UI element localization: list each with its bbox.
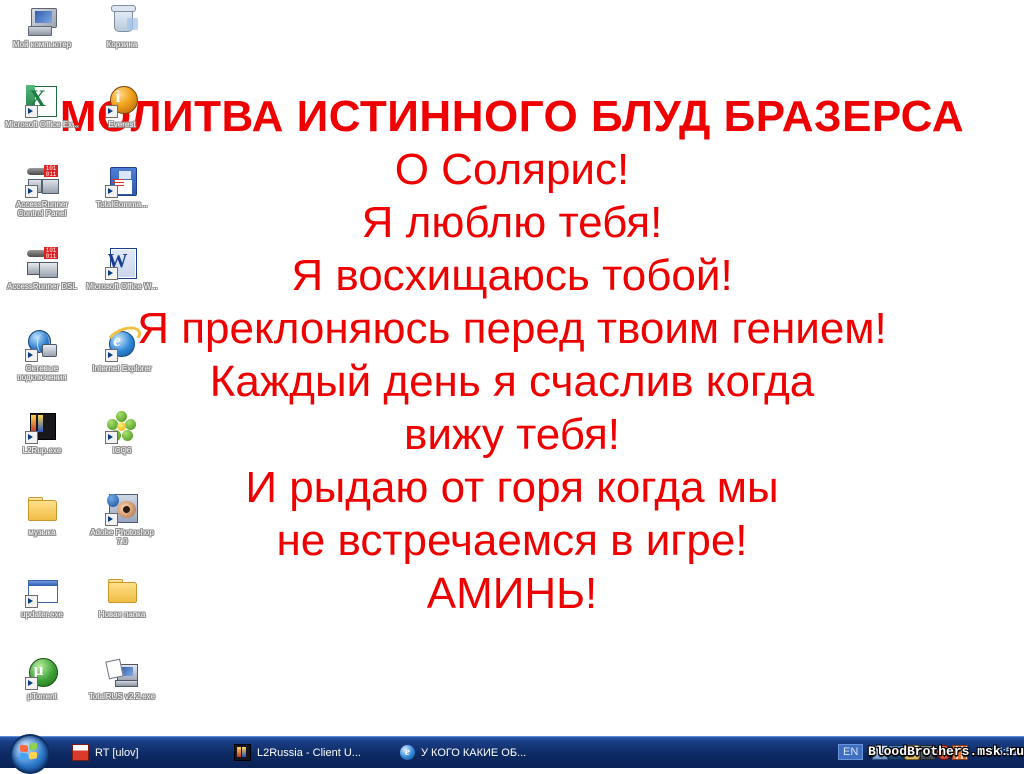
desktop-icon-everest[interactable]: i Everest [84,84,160,129]
network-globe-icon [25,328,59,362]
desktop-icon-label: AccessRunner Control Panel [4,200,80,218]
photoshop-icon [105,492,139,526]
modem-dsl-icon: 101011 [25,246,59,280]
desktop-icon-network-connections[interactable]: Сетевые подключения [4,328,80,382]
taskbar-button-browser[interactable]: У КОГО КАКИЕ ОБ... [400,741,585,764]
desktop-icon-label: Microsoft Office W... [84,282,160,291]
taskbar-button-label: RT [ulov] [95,747,139,759]
desktop-icon-label: µTorrent [4,692,80,701]
desktop-icon-utorrent[interactable]: µ µTorrent [4,656,80,701]
site-watermark: BloodBrothers.msk.ru [868,744,1024,759]
desktop-icon-new-folder[interactable]: Новая папка [84,574,160,619]
taskbar-button-l2russia[interactable]: L2Russia - Client U... [234,741,392,764]
desktop-icon-label: Новая папка [84,610,160,619]
lineage2-icon [234,744,251,761]
desktop-icon-label: AccessRunner DSL [4,282,80,291]
desktop-icon-updater-exe[interactable]: updater.exe [4,574,80,619]
start-button[interactable] [10,734,50,774]
utorrent-icon: µ [25,656,59,690]
desktop-icon-label: updater.exe [4,610,80,619]
recycle-bin-icon [105,4,139,38]
desktop-icon-label: Корзина [84,40,160,49]
word-icon: W [105,246,139,280]
desktop-icon-accessrunner-control-panel[interactable]: 101011 AccessRunner Control Panel [4,164,80,218]
desktop-icon-label: Microsoft Office Ex... [4,120,80,129]
desktop-icon-icq[interactable]: ICQ6 [84,410,160,455]
desktop-icon-internet-explorer[interactable]: e Internet Explorer [84,328,160,373]
desktop-icon-label: ICQ6 [84,446,160,455]
windows-logo-icon [20,744,28,752]
excel-icon: X [25,84,59,118]
desktop-icon-microsoft-office-excel[interactable]: X Microsoft Office Ex... [4,84,80,129]
internet-explorer-icon: e [105,328,139,362]
desktop-icon-adobe-photoshop[interactable]: Adobe Photoshop 7.0 [84,492,160,546]
desktop-icon-label: Мой компьютер [4,40,80,49]
desktop-icon-recycle-bin[interactable]: Корзина [84,4,160,49]
desktop-icon-label: Everest [84,120,160,129]
computer-icon [25,4,59,38]
floppy-disk-icon [105,164,139,198]
desktop-icon-microsoft-office-word[interactable]: W Microsoft Office W... [84,246,160,291]
desktop-icon-l2rup-exe[interactable]: L2Rup.exe [4,410,80,455]
desktop[interactable]: МОЛИТВА ИСТИННОГО БЛУД БРАЗЕРСА О Соляри… [0,0,1024,737]
folder-icon [25,492,59,526]
icq-flower-icon [105,410,139,444]
application-window-icon [25,574,59,608]
totalrus-icon [105,656,139,690]
desktop-icon-label: L2Rup.exe [4,446,80,455]
desktop-icon-label: TotalComma... [84,200,160,209]
desktop-icon-music-folder[interactable]: музыка [4,492,80,537]
desktop-icon-my-computer[interactable]: Мой компьютер [4,4,80,49]
internet-explorer-icon [400,745,415,760]
desktop-icon-totalrus[interactable]: TotalRUS v2.2.exe [84,656,160,701]
taskbar-button-rt[interactable]: RT [ulov] [72,741,222,764]
desktop-icon-label: Сетевые подключения [4,364,80,382]
desktop-icon-total-commander[interactable]: TotalComma... [84,164,160,209]
desktop-icon-accessrunner-dsl[interactable]: 101011 AccessRunner DSL [4,246,80,291]
lineage2-icon [25,410,59,444]
desktop-icon-label: Adobe Photoshop 7.0 [84,528,160,546]
taskbar-button-label: L2Russia - Client U... [257,747,361,759]
desktop-icon-label: Internet Explorer [84,364,160,373]
desktop-icon-label: музыка [4,528,80,537]
everest-info-icon: i [105,84,139,118]
taskbar-button-label: У КОГО КАКИЕ ОБ... [421,747,526,759]
rt-icon [72,744,89,761]
modem-icon: 101011 [25,164,59,198]
language-indicator[interactable]: EN [838,744,863,760]
desktop-icon-label: TotalRUS v2.2.exe [84,692,160,701]
folder-icon [105,574,139,608]
